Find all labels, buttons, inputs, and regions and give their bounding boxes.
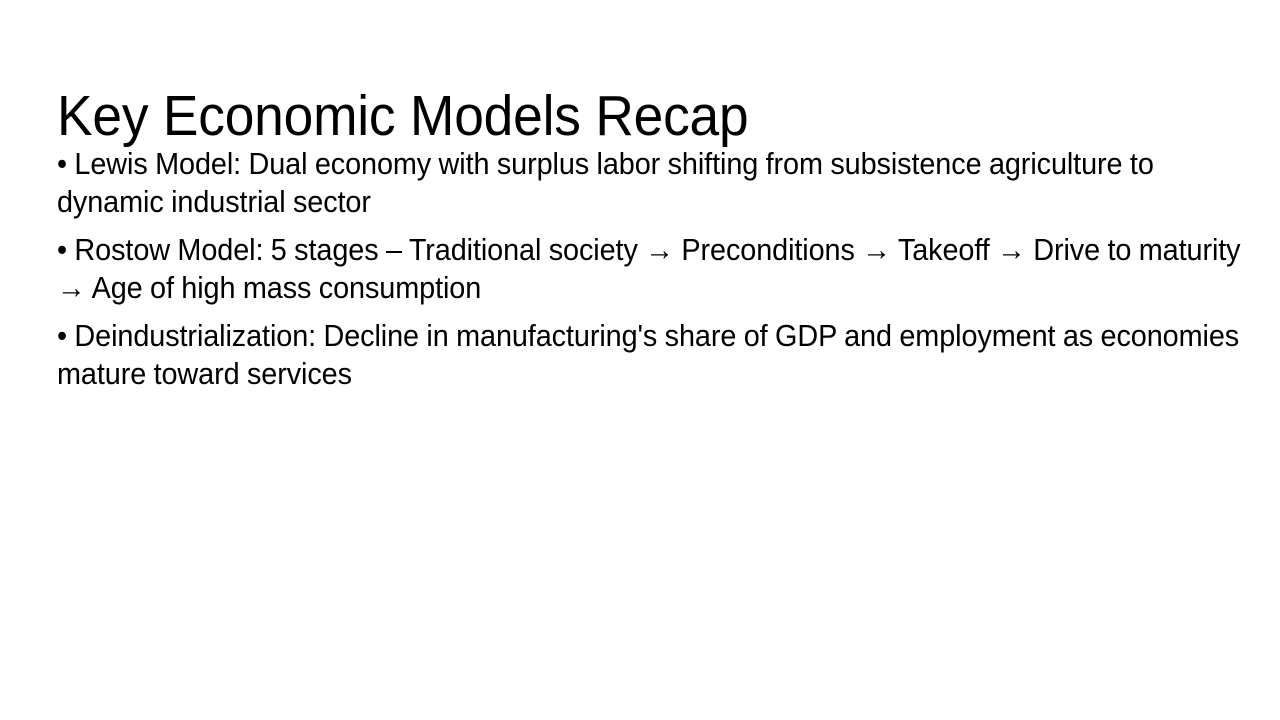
presentation-slide: Key Economic Models Recap • Lewis Model:… [0, 0, 1280, 720]
bullet-item-deindustrialization: • Deindustrialization: Decline in manufa… [57, 317, 1262, 393]
bullet-item-lewis-model: • Lewis Model: Dual economy with surplus… [57, 145, 1262, 221]
slide-title: Key Economic Models Recap [57, 86, 1151, 148]
bullet-list: • Lewis Model: Dual economy with surplus… [57, 145, 1262, 393]
bullet-item-rostow-model: • Rostow Model: 5 stages – Traditional s… [57, 231, 1262, 307]
